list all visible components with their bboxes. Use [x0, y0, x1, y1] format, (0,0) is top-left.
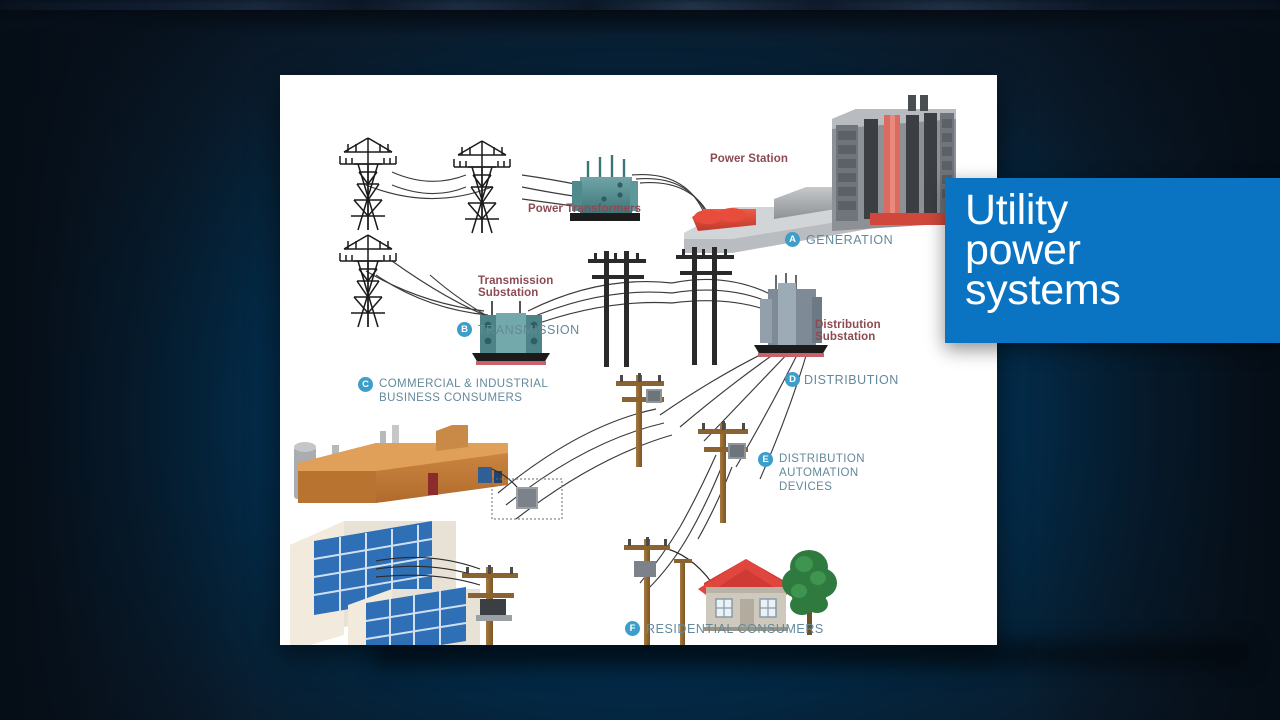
stage-label-commercial-line2: BUSINESS CONSUMERS — [379, 391, 548, 405]
stage-label-distribution: DISTRIBUTION — [804, 373, 899, 387]
stage-badge-f: F — [625, 621, 640, 636]
top-dark-fade — [0, 10, 1280, 36]
label-power-station: Power Station — [710, 153, 788, 165]
slide-title-line1: Utility — [965, 190, 1121, 230]
stage-badge-c: C — [358, 377, 373, 392]
slide-title-line2: power — [965, 230, 1121, 270]
stage-badge-a: A — [785, 232, 800, 247]
stage-label-automation-line1: DISTRIBUTION — [779, 452, 865, 466]
label-distribution-substation-line2: Substation — [815, 331, 881, 343]
stage-label-automation-line2: AUTOMATION — [779, 466, 865, 480]
slide-title-line3: systems — [965, 270, 1121, 310]
slide-title: Utility power systems — [965, 190, 1121, 310]
stage-badge-b: B — [457, 322, 472, 337]
power-station-building — [684, 95, 956, 253]
label-transmission-substation: Transmission Substation — [478, 275, 553, 299]
stage-label-residential: RESIDENTIAL CONSUMERS — [646, 622, 824, 636]
distribution-substation — [754, 273, 828, 357]
utility-power-systems-diagram: Power Station Power Transformers Transmi… — [280, 75, 997, 645]
slide-viewport: Power Station Power Transformers Transmi… — [0, 0, 1280, 720]
label-transmission-substation-line1: Transmission — [478, 275, 553, 287]
stage-label-automation: DISTRIBUTION AUTOMATION DEVICES — [779, 452, 865, 494]
stage-label-commercial: COMMERCIAL & INDUSTRIAL BUSINESS CONSUME… — [379, 377, 548, 405]
industrial-building — [294, 425, 508, 503]
stage-label-generation: GENERATION — [806, 233, 893, 247]
slide-title-box: Utility power systems — [945, 178, 1280, 343]
stage-label-automation-line3: DEVICES — [779, 480, 865, 494]
label-distribution-substation: Distribution Substation — [815, 319, 881, 343]
distribution-pole-dark-2 — [676, 247, 734, 365]
stage-badge-e: E — [758, 452, 773, 467]
stage-label-commercial-line1: COMMERCIAL & INDUSTRIAL — [379, 377, 548, 391]
distribution-pole-dark-1 — [588, 251, 646, 367]
office-building — [290, 521, 480, 645]
house — [698, 559, 794, 631]
stage-badge-d: D — [785, 372, 800, 387]
label-power-transformers: Power Transformers — [528, 203, 641, 215]
label-distribution-substation-line1: Distribution — [815, 319, 881, 331]
label-transmission-substation-line2: Substation — [478, 287, 553, 299]
distribution-automation-pole-2 — [698, 421, 748, 523]
stage-label-transmission: TRANSMISSION — [478, 323, 580, 337]
